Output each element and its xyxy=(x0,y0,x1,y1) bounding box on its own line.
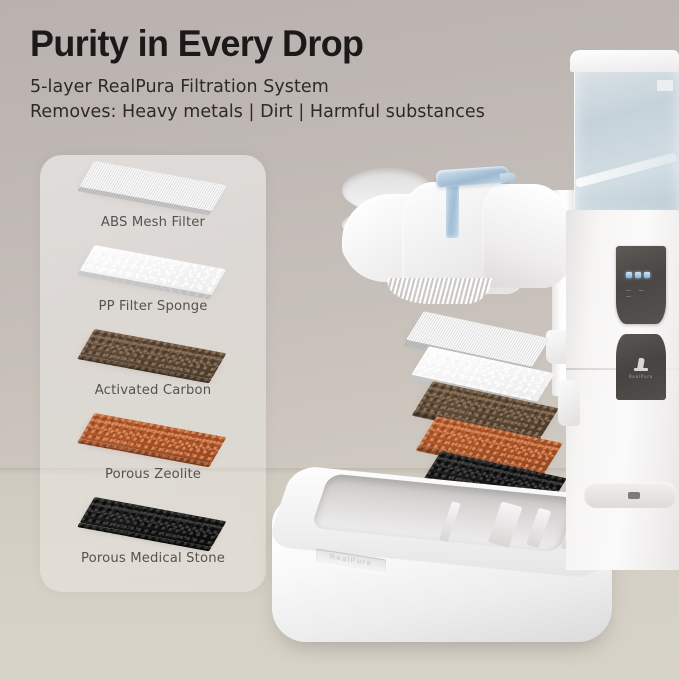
dispenser-brand-plate: RealPura xyxy=(616,334,666,400)
housing-right-shell xyxy=(482,184,574,288)
indicator-light xyxy=(644,272,650,278)
water-dispenser-unit: — — — RealPura xyxy=(566,50,679,570)
dispenser-control-panel[interactable]: — — — xyxy=(616,246,666,324)
brand-plate-text: RealPura xyxy=(616,374,666,379)
product-exploded-view: RealPura — — — RealPura xyxy=(0,0,679,679)
filter-top-housing xyxy=(342,168,574,313)
dispenser-water-tank xyxy=(574,64,679,214)
dispenser-tank-lid xyxy=(570,50,679,72)
indicator-light xyxy=(626,272,632,278)
tank-level-label xyxy=(657,80,673,91)
tank-highlight-streak xyxy=(575,152,678,188)
tray-fin xyxy=(526,508,551,548)
status-indicator-lights xyxy=(626,272,650,278)
control-panel-markings: — — — xyxy=(626,288,658,297)
tray-fin xyxy=(439,501,461,542)
blue-clip-tip xyxy=(500,172,517,182)
indicator-light xyxy=(635,272,641,278)
dispenser-side-trim xyxy=(558,380,580,426)
brand-logo-icon xyxy=(634,358,648,372)
housing-ribbed-grille xyxy=(384,278,492,304)
dispenser-foot-slot xyxy=(628,492,640,499)
tray-fin xyxy=(488,501,523,547)
